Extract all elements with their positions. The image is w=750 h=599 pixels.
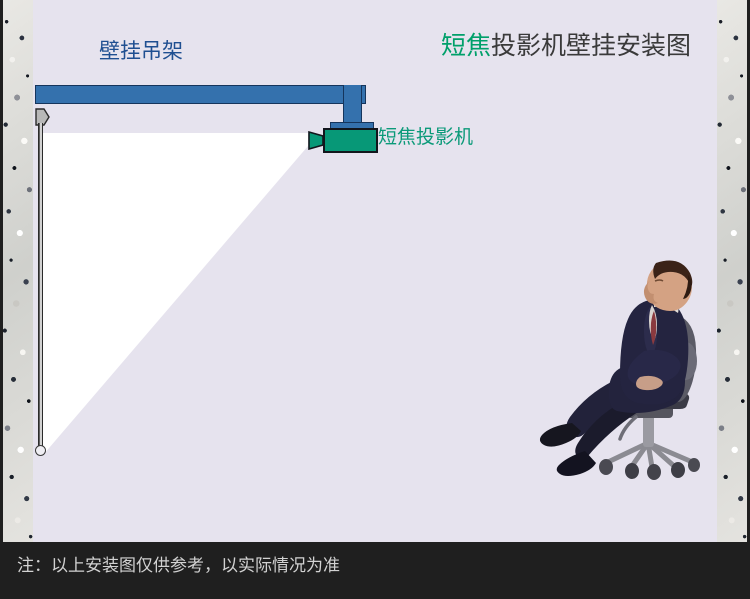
diagram-panel: 短焦投影机壁挂安装图 壁挂吊架 短焦投影机 <box>33 0 717 542</box>
bracket-label: 壁挂吊架 <box>99 41 183 62</box>
footer-note-text: 注：以上安装图仅供参考，以实际情况为准 <box>17 558 340 575</box>
wall-mount-drop-arm <box>343 85 362 126</box>
projection-screen-surface <box>43 133 308 455</box>
projector-lens-icon <box>308 131 324 150</box>
right-granite-border-strip <box>717 0 747 542</box>
page-title-highlight: 短焦 <box>441 31 491 60</box>
screen-pull-rod <box>38 123 43 453</box>
wall-mount-horizontal-bar <box>35 85 366 104</box>
page-title-rest: 投影机壁挂安装图 <box>491 31 691 60</box>
footer-bar: 注：以上安装图仅供参考，以实际情况为准 <box>0 542 750 599</box>
screen-pull-handle <box>35 445 46 456</box>
projector-label: 短焦投影机 <box>378 128 473 147</box>
short-throw-projector <box>323 128 378 153</box>
page-title: 短焦投影机壁挂安装图 <box>441 33 691 58</box>
seated-person-in-office-chair <box>528 255 717 485</box>
person-figure <box>540 261 692 476</box>
installation-diagram-page: 短焦投影机壁挂安装图 壁挂吊架 短焦投影机 注：以上安装图仅供参考，以实际情况为… <box>0 0 750 599</box>
left-granite-border-strip <box>3 0 33 542</box>
